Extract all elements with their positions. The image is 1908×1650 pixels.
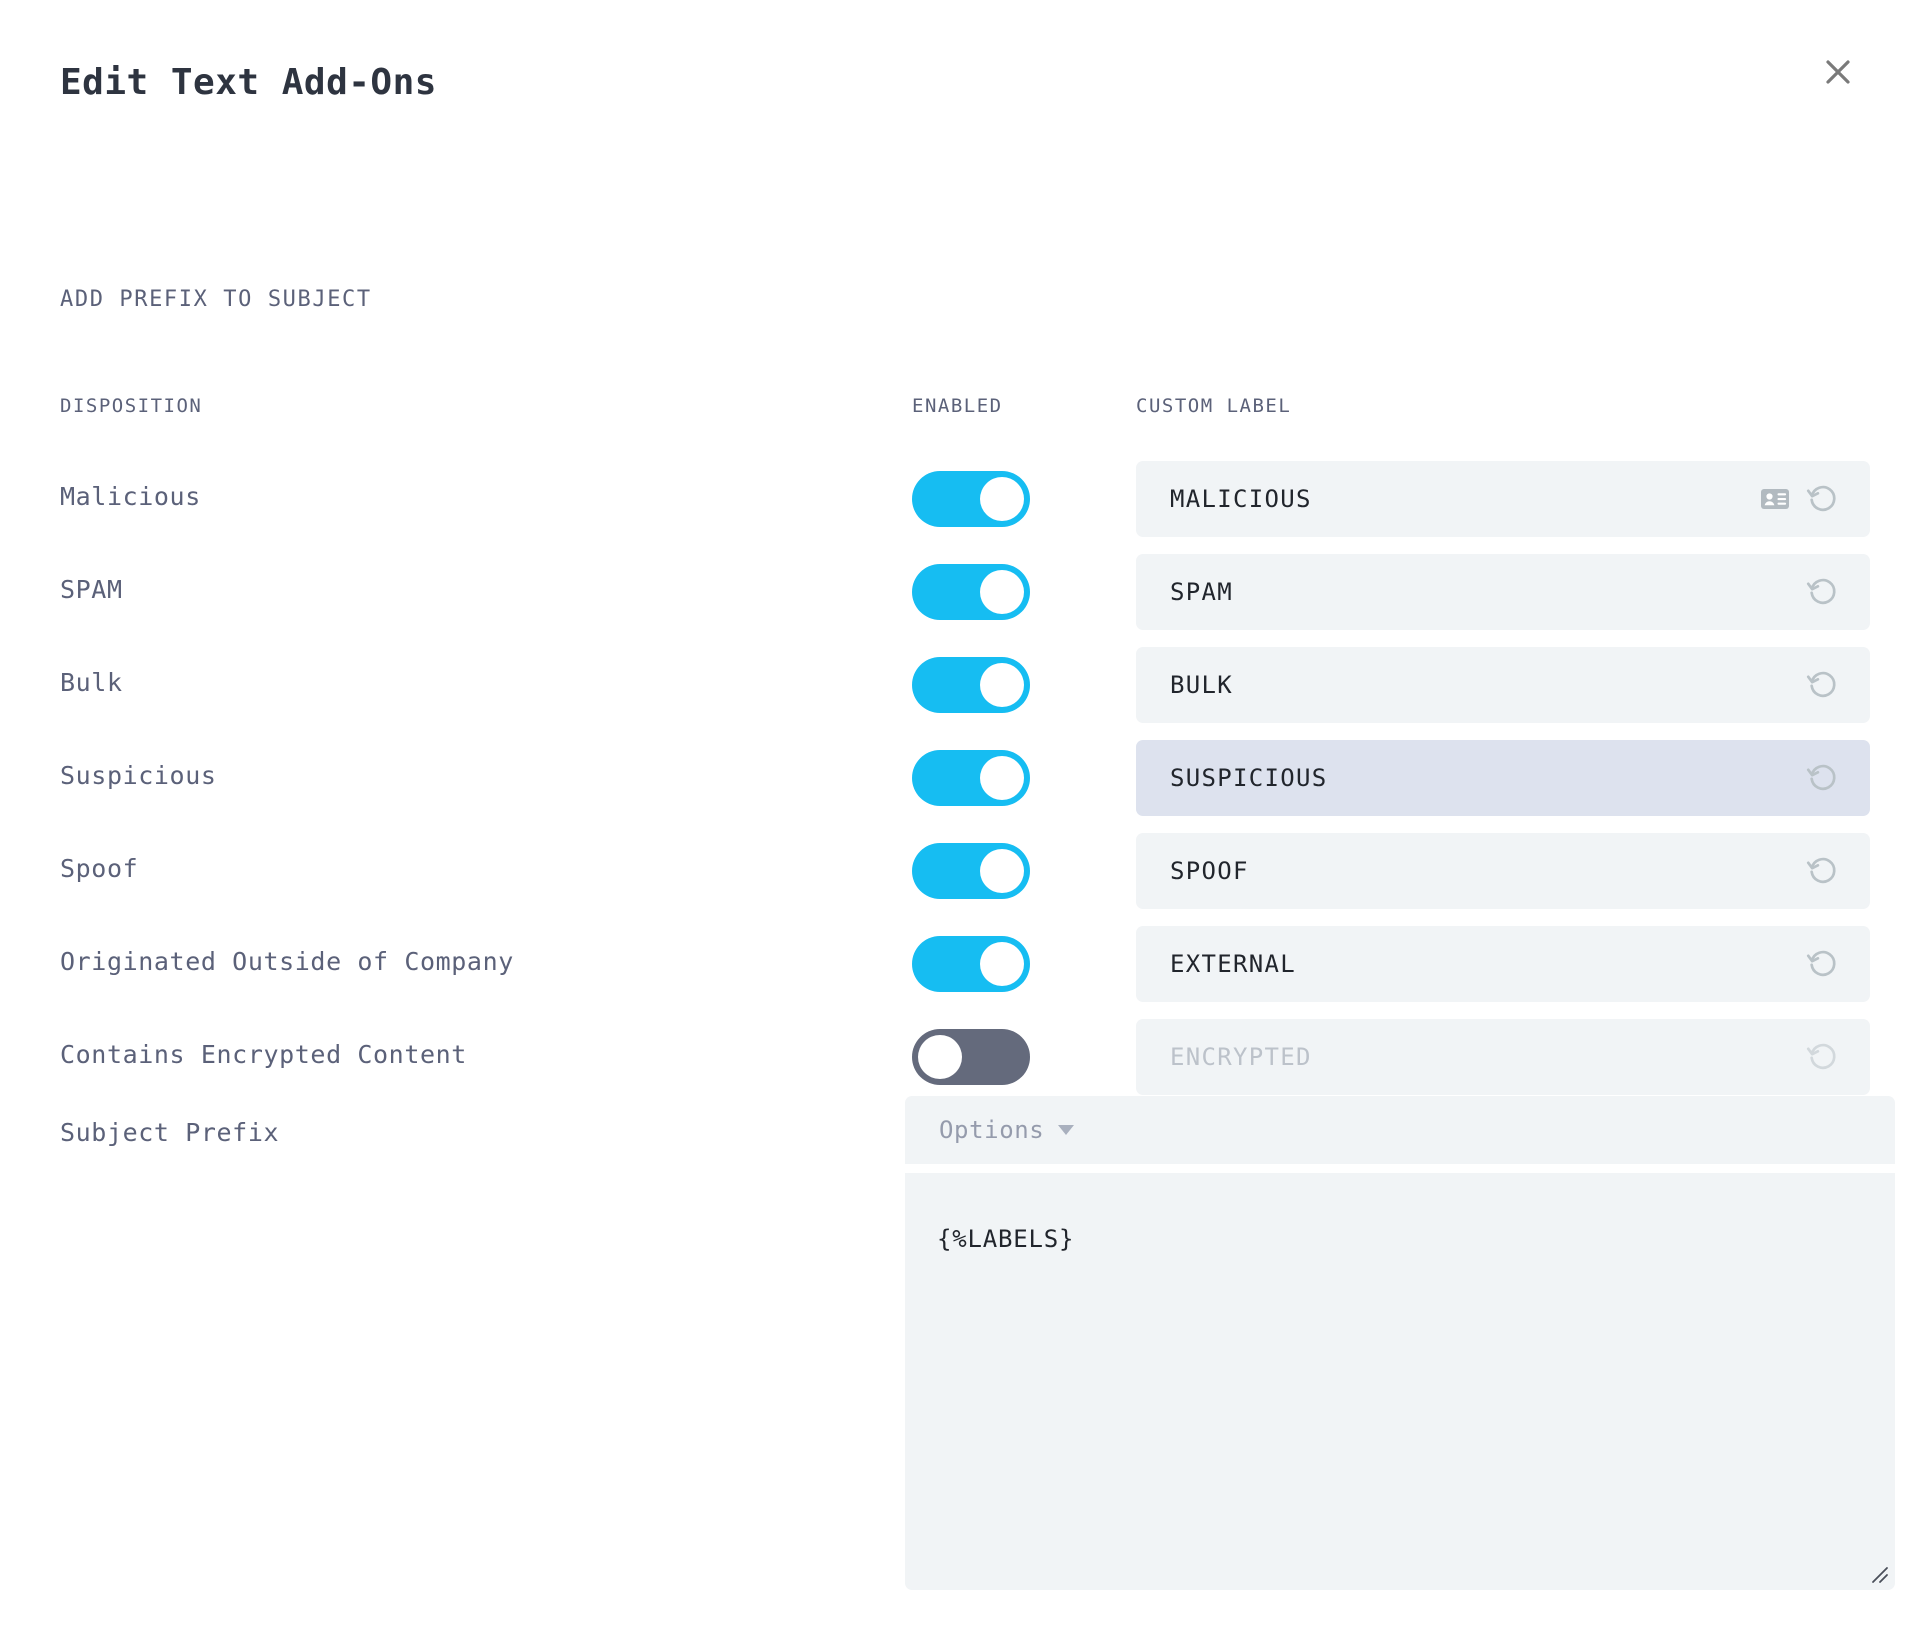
reset-icon[interactable] [1806,668,1840,702]
subject-prefix-textarea[interactable]: {%LABELS} [905,1170,1895,1590]
field-icon-group [1806,947,1840,981]
field-icon-group [1806,1040,1840,1074]
reset-icon[interactable] [1806,482,1840,516]
table-row: BulkBULK [0,641,1908,734]
custom-label-value: MALICIOUS [1170,485,1758,513]
subject-prefix-label: Subject Prefix [60,1118,279,1147]
disposition-label: Bulk [60,668,123,697]
resize-handle-icon[interactable] [1867,1562,1889,1584]
chevron-down-icon [1058,1125,1074,1135]
section-label-add-prefix-to-subject: ADD PREFIX TO SUBJECT [60,287,372,312]
table-row: SpoofSPOOF [0,827,1908,920]
enabled-toggle[interactable] [912,657,1030,713]
custom-label-input[interactable]: EXTERNAL [1136,926,1870,1002]
toggle-knob [980,849,1024,893]
custom-label-input[interactable]: SPAM [1136,554,1870,630]
options-dropdown-label: Options [939,1116,1044,1144]
toggle-knob [980,756,1024,800]
disposition-label: Originated Outside of Company [60,947,514,976]
field-icon-group [1806,854,1840,888]
custom-label-value: SUSPICIOUS [1170,764,1806,792]
column-header-disposition: DISPOSITION [60,395,202,417]
toggle-knob [980,942,1024,986]
enabled-toggle[interactable] [912,471,1030,527]
close-icon[interactable] [1816,50,1860,94]
table-row: Originated Outside of CompanyEXTERNAL [0,920,1908,1013]
custom-label-value: EXTERNAL [1170,950,1806,978]
disposition-label: Malicious [60,482,201,511]
enabled-toggle[interactable] [912,936,1030,992]
custom-label-value: ENCRYPTED [1170,1043,1806,1071]
disposition-label: Spoof [60,854,138,883]
options-dropdown-button[interactable]: Options [905,1096,1895,1164]
custom-label-value: BULK [1170,671,1806,699]
reset-icon[interactable] [1806,575,1840,609]
reset-icon [1806,1040,1840,1074]
custom-label-input[interactable]: BULK [1136,647,1870,723]
field-icon-group [1806,575,1840,609]
custom-label-input: ENCRYPTED [1136,1019,1870,1095]
contact-card-icon[interactable] [1758,482,1792,516]
subject-prefix-row: Subject Prefix Options [0,1096,1908,1166]
toggle-knob [980,477,1024,521]
toggle-knob [980,570,1024,614]
page-title: Edit Text Add-Ons [60,62,437,103]
table-row: SPAMSPAM [0,548,1908,641]
toggle-knob [980,663,1024,707]
field-icon-group [1806,668,1840,702]
enabled-toggle[interactable] [912,564,1030,620]
column-header-enabled: ENABLED [912,395,1003,417]
enabled-toggle[interactable] [912,1029,1030,1085]
disposition-label: SPAM [60,575,123,604]
edit-text-addons-dialog: Edit Text Add-Ons ADD PREFIX TO SUBJECT … [0,0,1908,1650]
reset-icon[interactable] [1806,947,1840,981]
field-icon-group [1758,482,1840,516]
enabled-toggle[interactable] [912,843,1030,899]
toggle-knob [918,1035,962,1079]
reset-icon[interactable] [1806,854,1840,888]
disposition-label: Suspicious [60,761,217,790]
table-row: Contains Encrypted ContentENCRYPTED [0,1013,1908,1106]
field-icon-group [1806,761,1840,795]
disposition-label: Contains Encrypted Content [60,1040,467,1069]
enabled-toggle[interactable] [912,750,1030,806]
subject-prefix-value: {%LABELS} [937,1225,1074,1253]
custom-label-value: SPOOF [1170,857,1806,885]
table-row: SuspiciousSUSPICIOUS [0,734,1908,827]
custom-label-input[interactable]: SUSPICIOUS [1136,740,1870,816]
reset-icon[interactable] [1806,761,1840,795]
disposition-rows: MaliciousMALICIOUSSPAMSPAMBulkBULKSuspic… [0,455,1908,1106]
custom-label-input[interactable]: SPOOF [1136,833,1870,909]
custom-label-input[interactable]: MALICIOUS [1136,461,1870,537]
table-row: MaliciousMALICIOUS [0,455,1908,548]
column-header-custom-label: CUSTOM LABEL [1136,395,1291,417]
custom-label-value: SPAM [1170,578,1806,606]
